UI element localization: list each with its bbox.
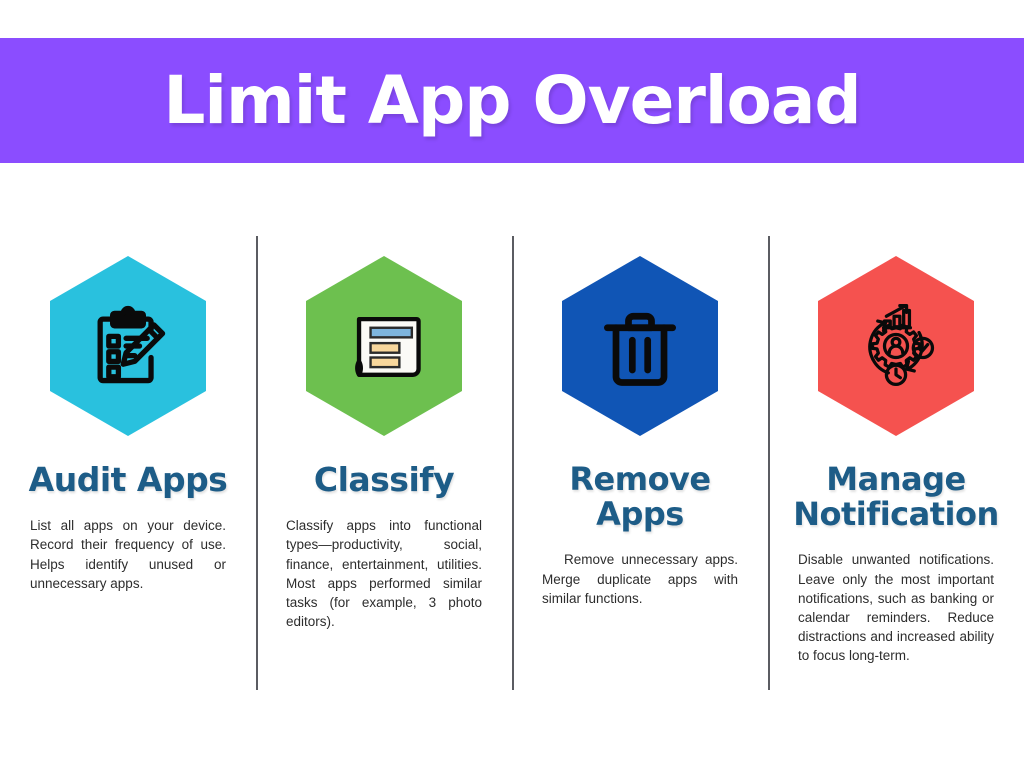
column-title-1: Audit Apps [29,462,228,498]
column-title-3: Remove Apps [569,462,710,532]
column-manage-notification: Manage Notification Disable unwanted not… [768,236,1024,696]
column-body-4: Disable unwanted notifications. Leave on… [798,550,994,665]
column-title-4: Manage Notification [793,462,999,532]
clipboard-checklist-pencil-icon [80,298,176,394]
column-body-2: Classify apps into functional types—prod… [286,516,482,631]
hexagon-badge-1 [50,256,206,436]
column-audit-apps: Audit Apps List all apps on your device.… [0,236,256,696]
column-classify: Classify Classify apps into functional t… [256,236,512,696]
page-title: Limit App Overload [163,68,860,134]
trash-can-icon [592,298,688,394]
column-title-2: Classify [314,462,454,498]
hexagon-badge-3 [562,256,718,436]
columns-container: Audit Apps List all apps on your device.… [0,236,1024,696]
column-body-1: List all apps on your device. Record the… [30,516,226,593]
hexagon-badge-2 [306,256,462,436]
document-list-icon [336,298,432,394]
header-banner: Limit App Overload [0,38,1024,163]
column-remove-apps: Remove Apps Remove unnecessary apps. Mer… [512,236,768,696]
column-body-3: Remove unnecessary apps. Merge duplicate… [542,550,738,607]
gear-cycle-analytics-icon [848,298,944,394]
hexagon-badge-4 [818,256,974,436]
